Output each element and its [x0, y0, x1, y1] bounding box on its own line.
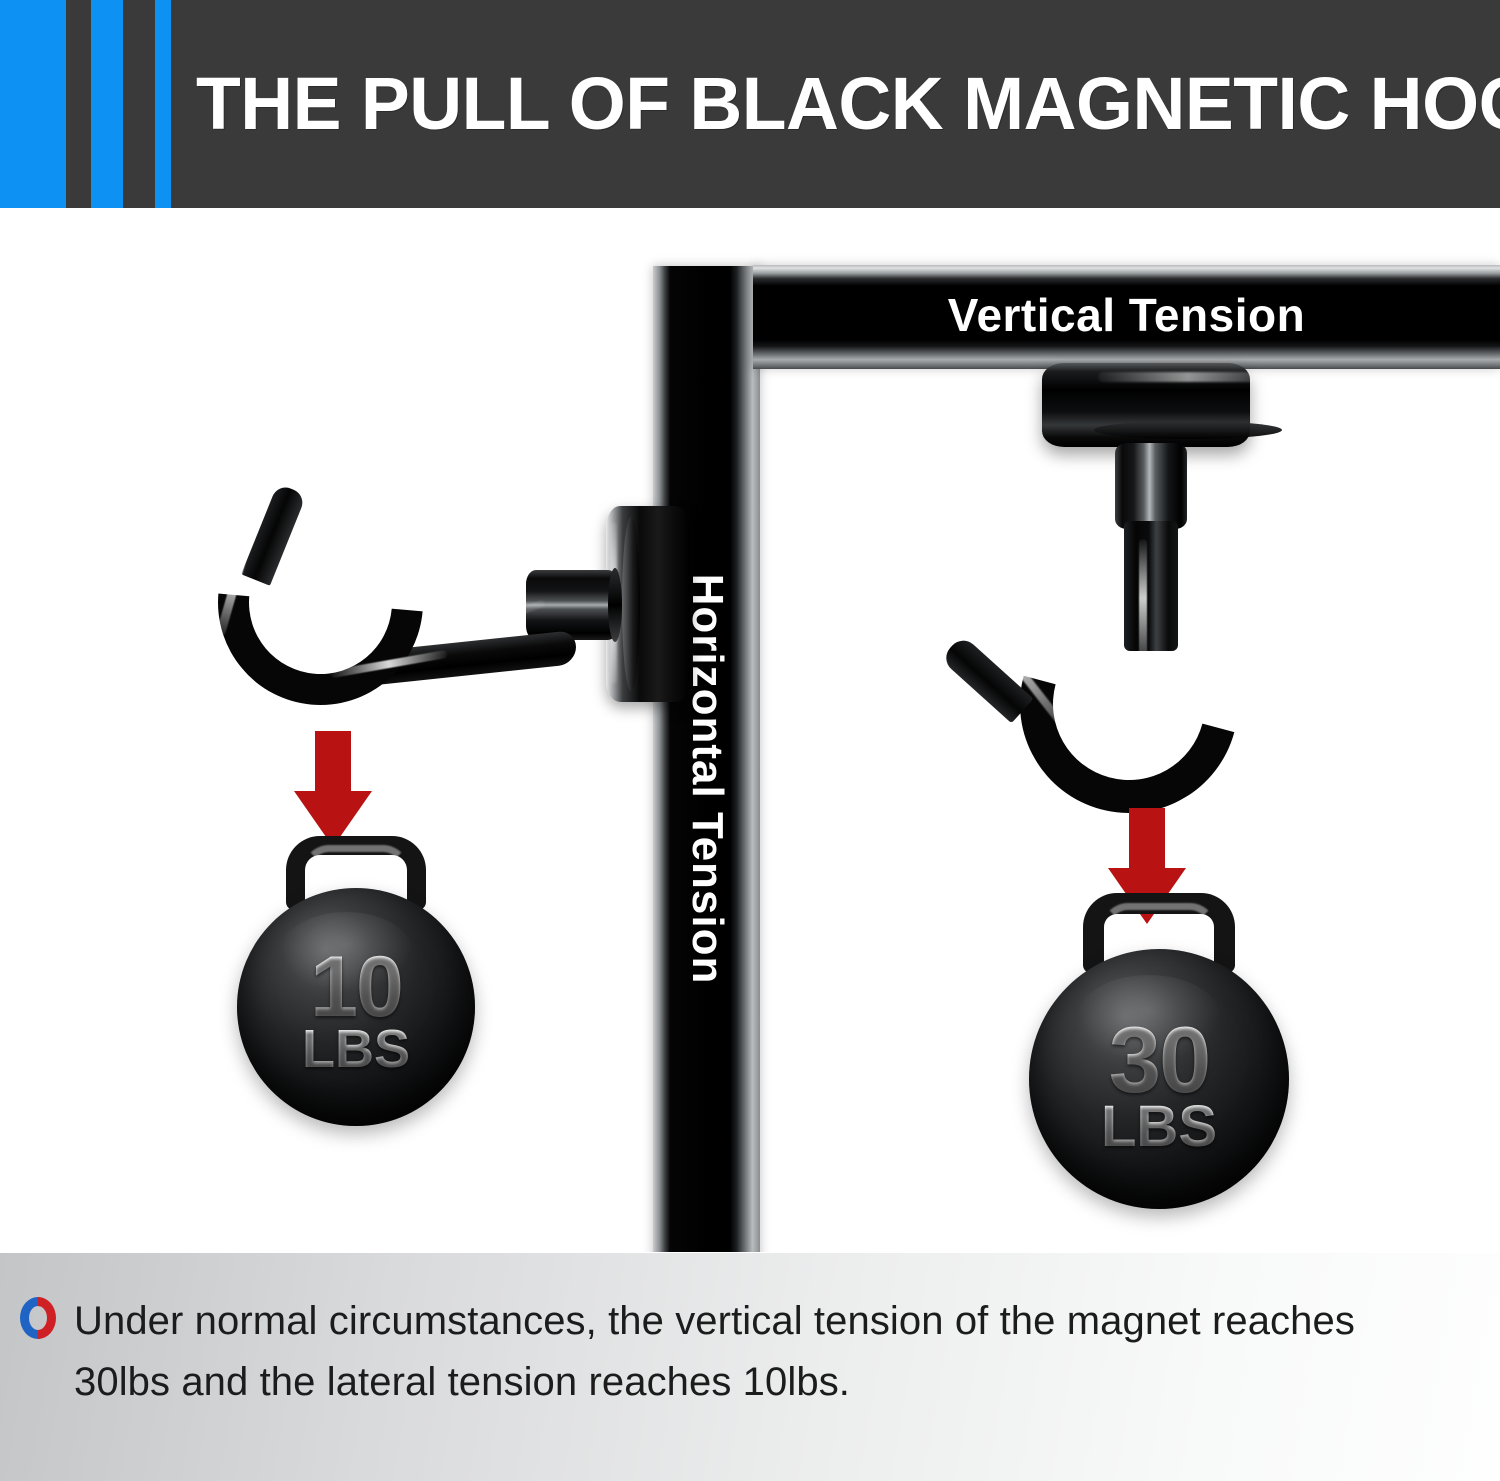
weight-handle-highlight	[303, 845, 409, 883]
weight-10lbs-icon: 10 LBS	[237, 836, 475, 1106]
hook-gloss-1	[1139, 539, 1147, 657]
arrow-shaft	[315, 731, 351, 793]
accent-bar-thin	[155, 0, 171, 208]
header-banner: THE PULL OF BLACK MAGNETIC HOOK	[0, 0, 1500, 208]
weight-unit: LBS	[1029, 1098, 1289, 1156]
weight-handle-highlight	[1102, 903, 1216, 943]
magnet-pole-left	[20, 1297, 40, 1339]
magnet-disc-highlight	[1098, 372, 1278, 382]
footer-note-row: Under normal circumstances, the vertical…	[18, 1291, 1460, 1413]
magnet-pole-right	[38, 1297, 58, 1339]
hook-neck-vertical	[1115, 443, 1187, 529]
magnet-disc-top-icon	[1042, 363, 1250, 447]
wall-surface-bar: Horizontal Tension	[653, 266, 760, 1252]
illustration-stage: Horizontal Tension Vertical Tension	[0, 208, 1500, 1252]
weight-number: 30	[1029, 1013, 1289, 1107]
magnet-disc-ring	[622, 516, 640, 692]
hook-tip-vertical	[940, 635, 1033, 724]
infographic-page: THE PULL OF BLACK MAGNETIC HOOK Horizont…	[0, 0, 1500, 1481]
vertical-tension-label: Vertical Tension	[753, 265, 1500, 369]
footer-note-panel: Under normal circumstances, the vertical…	[0, 1252, 1500, 1481]
page-title: THE PULL OF BLACK MAGNETIC HOOK	[196, 50, 1473, 160]
magnet-disc-ring	[1094, 421, 1282, 439]
hook-curve-horizontal	[176, 458, 465, 747]
hook-neck-cap	[608, 568, 622, 642]
accent-bar-wide	[0, 0, 66, 208]
magnet-poles-icon	[18, 1297, 58, 1339]
arrow-shaft	[1129, 808, 1165, 870]
weight-number: 10	[237, 944, 475, 1030]
weight-unit: LBS	[237, 1022, 475, 1076]
accent-bar-medium	[91, 0, 123, 208]
footer-note-text: Under normal circumstances, the vertical…	[74, 1291, 1460, 1413]
weight-30lbs-icon: 30 LBS	[1029, 893, 1289, 1185]
vertical-magnet-hook-icon	[1000, 363, 1300, 833]
horizontal-magnet-hook-icon	[180, 478, 680, 728]
ceiling-surface-bar: Vertical Tension	[753, 265, 1500, 369]
